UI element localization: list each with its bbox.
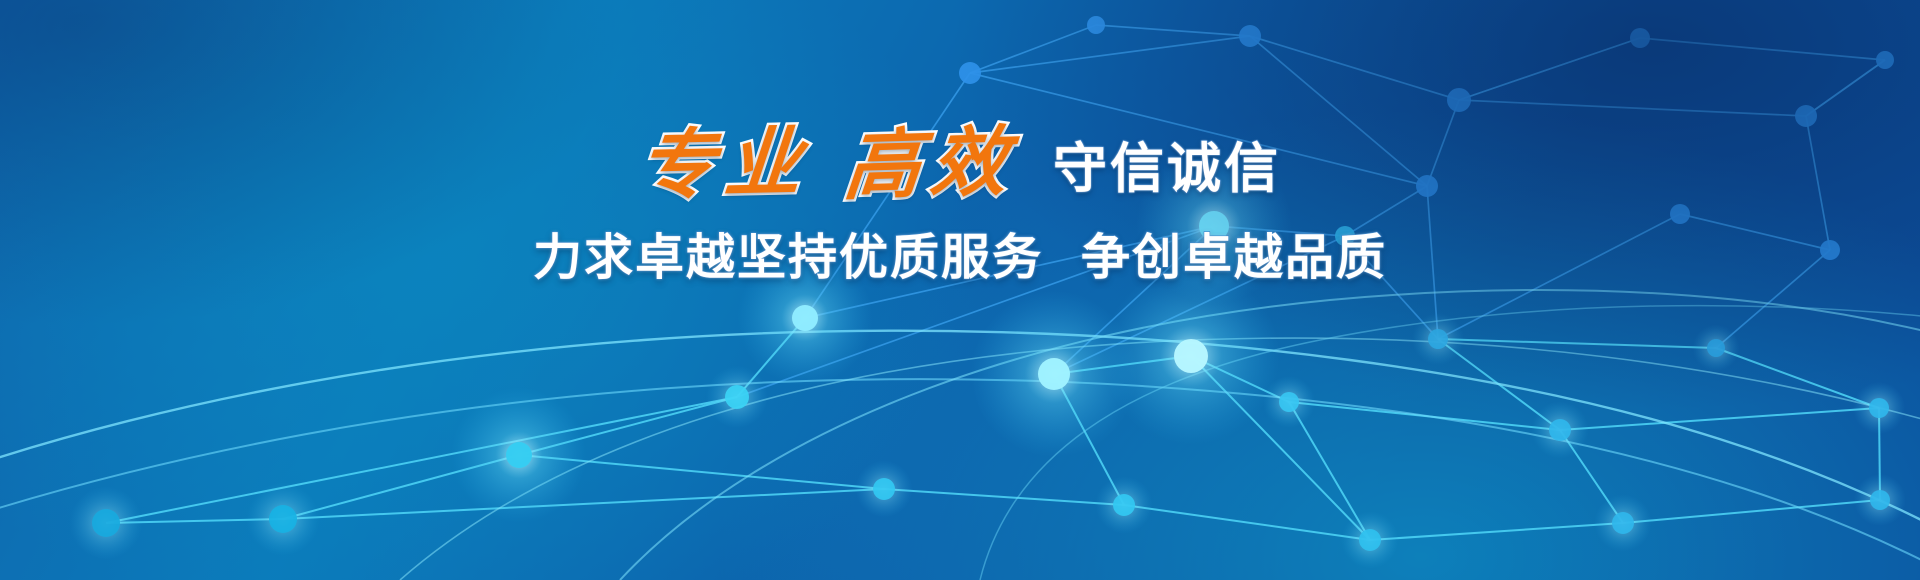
mesh-edges	[106, 25, 1885, 540]
mesh-nodes	[92, 16, 1894, 551]
hero-banner: 专业 高效 守信诚信 力求卓越坚持优质服务 争创卓越品质	[0, 0, 1920, 580]
network-mesh-icon	[0, 0, 1920, 580]
mesh-glows	[70, 148, 1906, 569]
